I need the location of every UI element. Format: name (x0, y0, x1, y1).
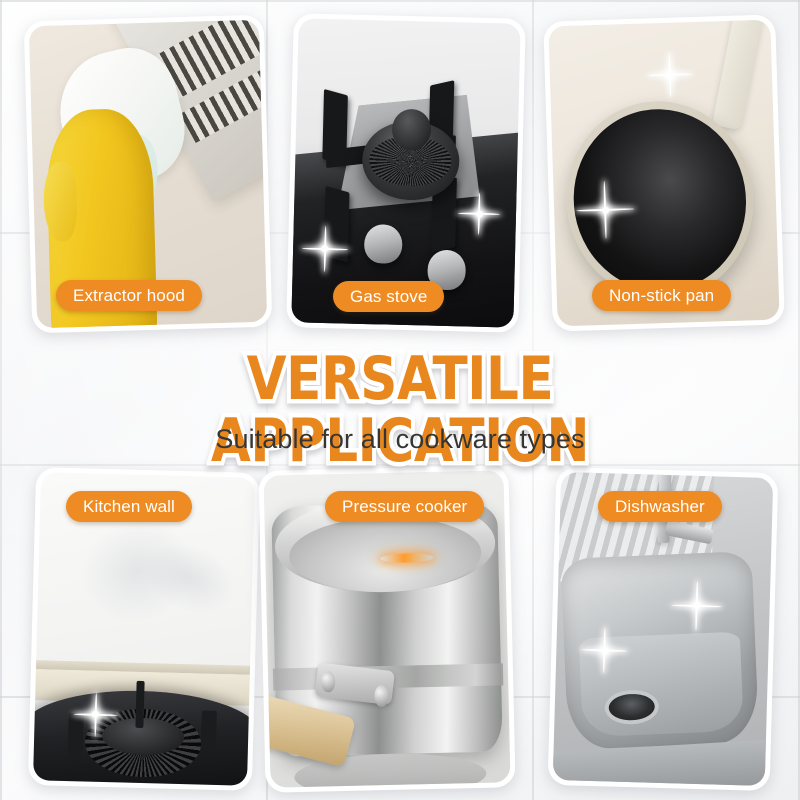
glove-thumb (42, 161, 78, 242)
stove-control-knob (364, 224, 403, 264)
label-pill-extractor-hood[interactable]: Extractor hood (56, 280, 202, 311)
promo-banner: Extractor hood Gas stove (0, 0, 800, 800)
label-text: Pressure cooker (342, 497, 467, 517)
sink-basin-floor (580, 632, 744, 738)
label-text: Kitchen wall (83, 497, 175, 517)
burner-grate (201, 711, 217, 754)
sink-front-edge (553, 739, 774, 786)
label-text: Dishwasher (615, 497, 705, 517)
sparkle-icon (647, 52, 692, 97)
label-pill-non-stick-pan[interactable]: Non-stick pan (592, 280, 731, 311)
label-text: Extractor hood (73, 286, 185, 306)
label-text: Non-stick pan (609, 286, 714, 306)
burner-grate (324, 186, 350, 263)
burner-stem (135, 681, 145, 727)
label-pill-dishwasher[interactable]: Dishwasher (598, 491, 722, 522)
label-pill-gas-stove[interactable]: Gas stove (333, 281, 444, 312)
label-pill-kitchen-wall[interactable]: Kitchen wall (66, 491, 192, 522)
pan-handle (712, 20, 766, 131)
burner-grate (68, 713, 84, 756)
label-text: Gas stove (350, 287, 427, 307)
label-pill-pressure-cooker[interactable]: Pressure cooker (325, 491, 484, 522)
page-subtitle: Suitable for all cookware types (0, 424, 800, 455)
sink-basin (561, 551, 760, 750)
handle-rivet (374, 685, 389, 707)
